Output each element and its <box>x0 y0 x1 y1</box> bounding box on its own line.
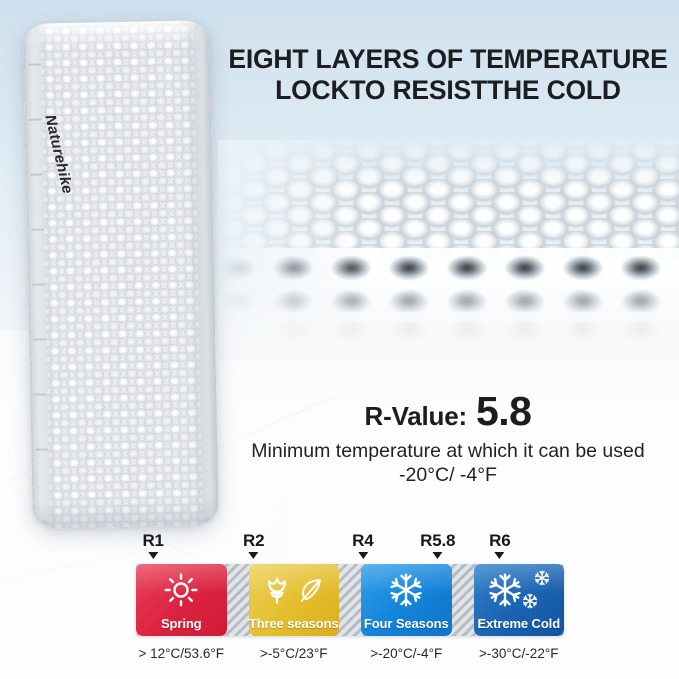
snowflake-small-group <box>528 570 550 614</box>
temperature-label-extreme-cold: >-30°C/-22°F <box>474 646 565 661</box>
layers-fade-bottom <box>218 270 679 360</box>
scale-marker-label: R2 <box>243 532 264 549</box>
temperature-label-three-seasons: >-5°C/23°F <box>249 646 340 661</box>
triangle-down-icon <box>249 552 259 559</box>
scale-segment-three-seasons[interactable]: Three seasons <box>249 564 340 636</box>
pad-shadow-bottom <box>32 499 218 529</box>
segment-icons <box>474 572 565 612</box>
segment-label: Four Seasons <box>364 616 449 631</box>
sleeping-pad-product: Naturehike <box>23 20 219 528</box>
segment-label: Spring <box>161 616 202 631</box>
triangle-down-icon <box>495 552 505 559</box>
temperature-label-spring: > 12°C/53.6°F <box>136 646 227 661</box>
snowflake-small-icon <box>522 593 550 614</box>
rvalue-description-line-1: Minimum temperature at which it can be u… <box>222 439 674 463</box>
temperature-gap <box>339 646 361 661</box>
temperature-gap <box>227 646 249 661</box>
scale-marker-label: R5.8 <box>420 532 455 549</box>
scale-marker-label: R4 <box>352 532 373 549</box>
scale-bar: SpringThree seasonsFour SeasonsExtreme C… <box>136 564 564 636</box>
scale-temperatures: > 12°C/53.6°F>-5°C/23°F>-20°C/-4°F>-30°C… <box>136 646 564 661</box>
headline-line-1: EIGHT LAYERS OF TEMPERATURE <box>222 44 674 75</box>
sun-icon <box>164 573 198 612</box>
headline-line-2: LOCKTO RESISTTHE COLD <box>222 75 674 106</box>
page-title: EIGHT LAYERS OF TEMPERATURE LOCKTO RESIS… <box>222 44 674 105</box>
triangle-down-icon <box>148 552 158 559</box>
air-cell-layers-photo <box>218 140 679 360</box>
rvalue-scale: R1R2R4R5.8R6 SpringThree seasonsFour Sea… <box>136 532 564 661</box>
segment-label: Extreme Cold <box>477 616 560 631</box>
scale-segment-spring[interactable]: Spring <box>136 564 227 636</box>
scale-marker-r4: R4 <box>352 532 373 559</box>
triangle-down-icon <box>433 552 443 559</box>
temperature-gap <box>452 646 474 661</box>
scale-divider-stripes <box>339 564 361 636</box>
scale-divider-stripes <box>227 564 249 636</box>
segment-icons <box>249 572 340 612</box>
rvalue-number: 5.8 <box>476 392 532 431</box>
scale-marker-r2: R2 <box>243 532 264 559</box>
scale-segment-extreme-cold[interactable]: Extreme Cold <box>474 564 565 636</box>
segment-label: Three seasons <box>249 616 339 631</box>
snowflake-icon <box>388 572 424 613</box>
rvalue-block: R-Value: 5.8 Minimum temperature at whic… <box>222 392 674 488</box>
scale-marker-r6: R6 <box>489 532 510 559</box>
sleeping-pad-body <box>23 20 219 528</box>
scale-marker-label: R1 <box>142 532 163 549</box>
product-poster: Naturehike EIGHT LAYERS OF TEMPERATURE L… <box>0 0 679 679</box>
rvalue-description: Minimum temperature at which it can be u… <box>222 439 674 488</box>
snowflake-small-icon <box>534 570 550 591</box>
segment-icons <box>361 572 452 612</box>
triangle-down-icon <box>358 552 368 559</box>
scale-marker-r1: R1 <box>142 532 163 559</box>
snowflake-icon <box>487 572 523 613</box>
rvalue-description-line-2: -20°C/ -4°F <box>222 463 674 487</box>
temperature-label-four-seasons: >-20°C/-4°F <box>361 646 452 661</box>
scale-marker-r5-8: R5.8 <box>420 532 455 559</box>
scale-markers: R1R2R4R5.8R6 <box>136 532 564 564</box>
rvalue-label: R-Value: <box>365 401 467 432</box>
leaf-icon <box>297 575 325 610</box>
scale-divider-stripes <box>452 564 474 636</box>
rvalue-headline: R-Value: 5.8 <box>222 392 674 432</box>
scale-segment-four-seasons[interactable]: Four Seasons <box>361 564 452 636</box>
segment-icons <box>136 572 227 612</box>
tulip-icon <box>262 573 292 612</box>
scale-marker-label: R6 <box>489 532 510 549</box>
